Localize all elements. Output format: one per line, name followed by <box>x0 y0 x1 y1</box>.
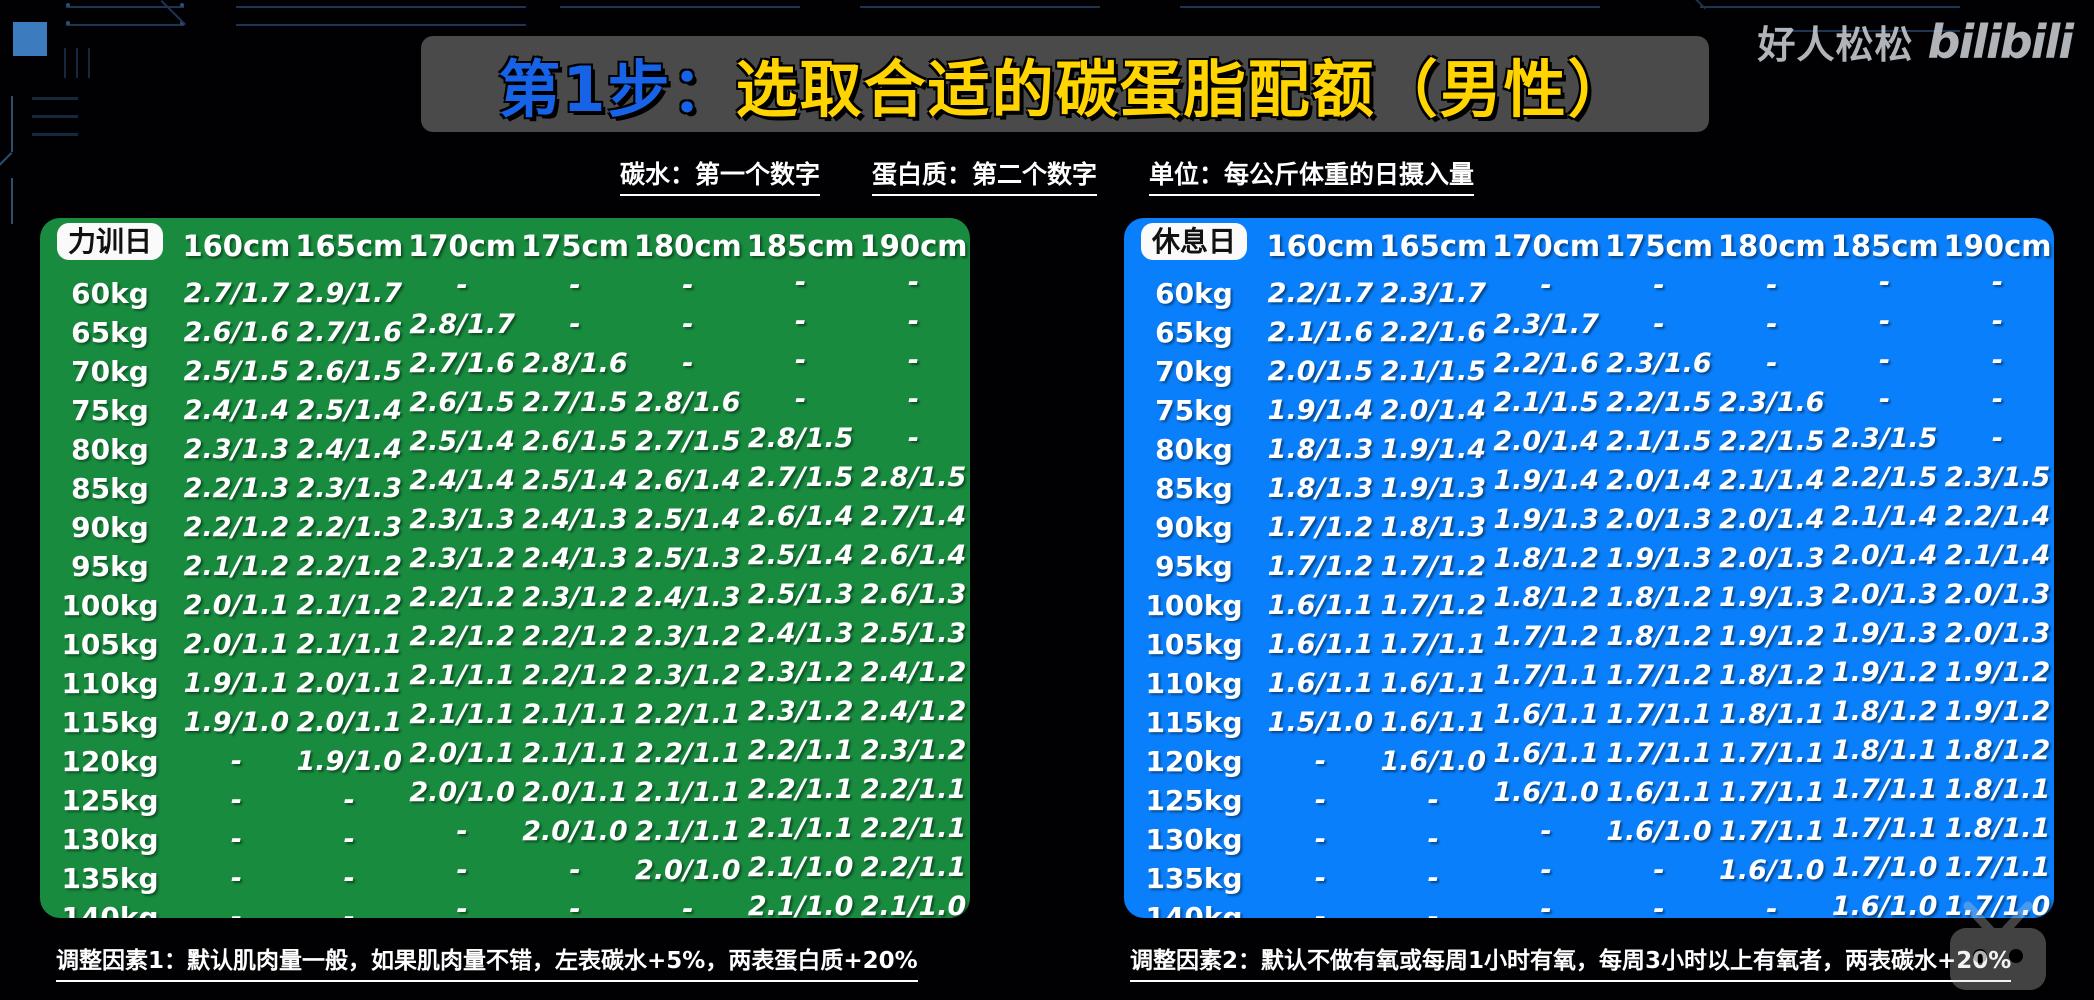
row-label-125kg: 125kg <box>1124 781 1264 820</box>
cell-110kg-170cm: 1.7/1.1 <box>1490 656 1603 695</box>
cell-105kg-165cm: 1.7/1.1 <box>1377 625 1490 664</box>
footnote-right: 调整因素2：默认不做有氧或每周1小时有氧，每周3小时以上有氧者，两表碳水+20% <box>1130 941 2011 982</box>
cell-115kg-185cm: 2.3/1.2 <box>744 692 857 731</box>
cell-130kg-165cm: - <box>293 820 406 859</box>
subheading-carbs: 碳水：第一个数字 <box>620 155 820 196</box>
cell-60kg-165cm: 2.9/1.7 <box>293 274 406 313</box>
cell-115kg-165cm: 1.6/1.1 <box>1377 703 1490 742</box>
cell-75kg-160cm: 1.9/1.4 <box>1264 391 1377 430</box>
cell-70kg-185cm: - <box>1828 341 1941 380</box>
cell-120kg-190cm: 2.3/1.2 <box>857 731 970 770</box>
cell-135kg-175cm: - <box>519 851 632 890</box>
cell-60kg-185cm: - <box>744 263 857 302</box>
cell-120kg-185cm: 2.2/1.1 <box>744 731 857 770</box>
cell-115kg-180cm: 2.2/1.1 <box>631 695 744 734</box>
decor-line <box>560 6 800 8</box>
cell-70kg-190cm: - <box>1941 341 2054 380</box>
cell-95kg-180cm: 2.0/1.3 <box>1715 539 1828 578</box>
cell-105kg-185cm: 1.9/1.3 <box>1828 614 1941 653</box>
cell-125kg-185cm: 1.7/1.1 <box>1828 770 1941 809</box>
cell-100kg-175cm: 2.3/1.2 <box>519 578 632 617</box>
cell-95kg-170cm: 1.8/1.2 <box>1490 539 1603 578</box>
cell-60kg-185cm: - <box>1828 263 1941 302</box>
watermark: 好人松松 bilibili <box>1758 14 2072 69</box>
cell-75kg-190cm: - <box>1941 380 2054 419</box>
cell-60kg-180cm: - <box>631 266 744 305</box>
cell-125kg-185cm: 2.2/1.1 <box>744 770 857 809</box>
cell-95kg-180cm: 2.5/1.3 <box>631 539 744 578</box>
training-badge: 力训日 <box>57 223 163 260</box>
cell-120kg-160cm: - <box>1264 742 1377 781</box>
cell-65kg-165cm: 2.2/1.6 <box>1377 313 1490 352</box>
cell-85kg-180cm: 2.6/1.4 <box>631 461 744 500</box>
subheading-protein: 蛋白质：第二个数字 <box>872 155 1097 196</box>
cell-75kg-190cm: - <box>857 380 970 419</box>
cell-125kg-180cm: 2.1/1.1 <box>631 773 744 812</box>
cell-95kg-170cm: 2.3/1.2 <box>406 539 519 578</box>
cell-80kg-170cm: 2.5/1.4 <box>406 422 519 461</box>
cell-135kg-180cm: 2.0/1.0 <box>631 851 744 890</box>
cell-130kg-185cm: 2.1/1.1 <box>744 809 857 848</box>
cell-110kg-190cm: 1.9/1.2 <box>1941 653 2054 692</box>
cell-70kg-170cm: 2.2/1.6 <box>1490 344 1603 383</box>
cell-115kg-160cm: 1.9/1.0 <box>180 703 293 742</box>
cell-95kg-175cm: 2.4/1.3 <box>519 539 632 578</box>
bilibili-tv-icon <box>1938 900 2058 996</box>
cell-105kg-180cm: 2.3/1.2 <box>631 617 744 656</box>
cell-85kg-170cm: 1.9/1.4 <box>1490 461 1603 500</box>
cell-115kg-190cm: 1.9/1.2 <box>1941 692 2054 731</box>
row-label-75kg: 75kg <box>1124 391 1264 430</box>
cell-140kg-180cm: - <box>1715 890 1828 918</box>
cell-70kg-170cm: 2.7/1.6 <box>406 344 519 383</box>
cell-90kg-180cm: 2.0/1.4 <box>1715 500 1828 539</box>
cell-115kg-175cm: 2.1/1.1 <box>519 695 632 734</box>
row-label-135kg: 135kg <box>40 859 180 898</box>
cell-115kg-180cm: 1.8/1.1 <box>1715 695 1828 734</box>
cell-90kg-180cm: 2.5/1.4 <box>631 500 744 539</box>
cell-60kg-160cm: 2.2/1.7 <box>1264 274 1377 313</box>
cell-110kg-165cm: 2.0/1.1 <box>293 664 406 703</box>
row-label-140kg: 140kg <box>1124 898 1264 918</box>
decor-diagonal <box>161 0 186 25</box>
cell-115kg-165cm: 2.0/1.1 <box>293 703 406 742</box>
cell-70kg-165cm: 2.6/1.5 <box>293 352 406 391</box>
cell-100kg-170cm: 1.8/1.2 <box>1490 578 1603 617</box>
cell-115kg-170cm: 2.1/1.1 <box>406 695 519 734</box>
cell-130kg-190cm: 2.2/1.1 <box>857 809 970 848</box>
row-label-60kg: 60kg <box>1124 274 1264 313</box>
row-label-105kg: 105kg <box>40 625 180 664</box>
cell-100kg-165cm: 1.7/1.2 <box>1377 586 1490 625</box>
cell-70kg-180cm: - <box>1715 344 1828 383</box>
cell-110kg-185cm: 2.3/1.2 <box>744 653 857 692</box>
rest-badge-cell: 休息日 <box>1124 218 1264 274</box>
cell-135kg-185cm: 2.1/1.0 <box>744 848 857 887</box>
cell-60kg-180cm: - <box>1715 266 1828 305</box>
cell-115kg-185cm: 1.8/1.2 <box>1828 692 1941 731</box>
table-row: 140kg-----2.1/1.02.1/1.0 <box>40 898 970 918</box>
cell-85kg-170cm: 2.4/1.4 <box>406 461 519 500</box>
cell-140kg-160cm: - <box>1264 898 1377 918</box>
cell-105kg-170cm: 2.2/1.2 <box>406 617 519 656</box>
cell-90kg-165cm: 1.8/1.3 <box>1377 508 1490 547</box>
cell-90kg-185cm: 2.1/1.4 <box>1828 497 1941 536</box>
cell-120kg-165cm: 1.9/1.0 <box>293 742 406 781</box>
cell-120kg-185cm: 1.8/1.1 <box>1828 731 1941 770</box>
decor-line <box>66 6 184 8</box>
cell-80kg-160cm: 2.3/1.3 <box>180 430 293 469</box>
cell-105kg-175cm: 2.2/1.2 <box>519 617 632 656</box>
row-label-80kg: 80kg <box>40 430 180 469</box>
cell-120kg-160cm: - <box>180 742 293 781</box>
row-label-110kg: 110kg <box>1124 664 1264 703</box>
footnote-left: 调整因素1：默认肌肉量一般，如果肌肉量不错，左表碳水+5%，两表蛋白质+20% <box>56 941 918 982</box>
row-label-140kg: 140kg <box>40 898 180 918</box>
cell-75kg-160cm: 2.4/1.4 <box>180 391 293 430</box>
cell-125kg-180cm: 1.7/1.1 <box>1715 773 1828 812</box>
cell-60kg-175cm: - <box>519 266 632 305</box>
cell-130kg-170cm: - <box>1490 812 1603 851</box>
cell-125kg-170cm: 1.6/1.0 <box>1490 773 1603 812</box>
cell-60kg-165cm: 2.3/1.7 <box>1377 274 1490 313</box>
cell-135kg-160cm: - <box>180 859 293 898</box>
cell-75kg-180cm: 2.3/1.6 <box>1715 383 1828 422</box>
decor-line <box>11 96 13 152</box>
decor-line <box>66 24 184 26</box>
cell-60kg-175cm: - <box>1603 266 1716 305</box>
training-day-table: 力训日 160cm 165cm 170cm 175cm 180cm 185cm … <box>40 218 970 918</box>
cell-80kg-180cm: 2.2/1.5 <box>1715 422 1828 461</box>
cell-65kg-175cm: - <box>1603 305 1716 344</box>
cell-65kg-165cm: 2.7/1.6 <box>293 313 406 352</box>
cell-135kg-175cm: - <box>1603 851 1716 890</box>
row-label-130kg: 130kg <box>40 820 180 859</box>
cell-105kg-160cm: 2.0/1.1 <box>180 625 293 664</box>
cell-125kg-160cm: - <box>1264 781 1377 820</box>
decor-line <box>236 24 526 26</box>
cell-100kg-165cm: 2.1/1.2 <box>293 586 406 625</box>
cell-100kg-160cm: 2.0/1.1 <box>180 586 293 625</box>
row-label-70kg: 70kg <box>40 352 180 391</box>
cell-140kg-165cm: - <box>1377 898 1490 918</box>
cell-95kg-165cm: 2.2/1.2 <box>293 547 406 586</box>
cell-140kg-175cm: - <box>1603 890 1716 918</box>
cell-85kg-175cm: 2.0/1.4 <box>1603 461 1716 500</box>
cell-120kg-180cm: 1.7/1.1 <box>1715 734 1828 773</box>
cell-65kg-180cm: - <box>631 305 744 344</box>
row-label-60kg: 60kg <box>40 274 180 313</box>
cell-115kg-170cm: 1.6/1.1 <box>1490 695 1603 734</box>
cell-105kg-190cm: 2.0/1.3 <box>1941 614 2054 653</box>
cell-115kg-175cm: 1.7/1.1 <box>1603 695 1716 734</box>
cell-120kg-170cm: 2.0/1.1 <box>406 734 519 773</box>
cell-90kg-165cm: 2.2/1.3 <box>293 508 406 547</box>
cell-90kg-175cm: 2.0/1.3 <box>1603 500 1716 539</box>
decor-bar <box>32 115 78 118</box>
cell-65kg-190cm: - <box>857 302 970 341</box>
cell-65kg-170cm: 2.8/1.7 <box>406 305 519 344</box>
cell-115kg-190cm: 2.4/1.2 <box>857 692 970 731</box>
row-label-110kg: 110kg <box>40 664 180 703</box>
row-label-120kg: 120kg <box>40 742 180 781</box>
cell-100kg-170cm: 2.2/1.2 <box>406 578 519 617</box>
cell-130kg-160cm: - <box>1264 820 1377 859</box>
cell-75kg-170cm: 2.6/1.5 <box>406 383 519 422</box>
cell-65kg-170cm: 2.3/1.7 <box>1490 305 1603 344</box>
row-label-85kg: 85kg <box>40 469 180 508</box>
cell-125kg-190cm: 1.8/1.1 <box>1941 770 2054 809</box>
cell-130kg-160cm: - <box>180 820 293 859</box>
cell-80kg-185cm: 2.3/1.5 <box>1828 419 1941 458</box>
row-label-115kg: 115kg <box>40 703 180 742</box>
cell-140kg-185cm: 1.6/1.0 <box>1828 887 1941 918</box>
row-label-100kg: 100kg <box>40 586 180 625</box>
poster-root: 好人松松 bilibili 第1步：选取合适的碳蛋脂配额（男性） 碳水：第一个数… <box>0 0 2094 1000</box>
cell-135kg-165cm: - <box>293 859 406 898</box>
training-day-panel: 力训日 160cm 165cm 170cm 175cm 180cm 185cm … <box>40 218 970 918</box>
cell-95kg-190cm: 2.1/1.4 <box>1941 536 2054 575</box>
cell-100kg-180cm: 1.9/1.3 <box>1715 578 1828 617</box>
cell-70kg-175cm: 2.8/1.6 <box>519 344 632 383</box>
cell-115kg-160cm: 1.5/1.0 <box>1264 703 1377 742</box>
cell-75kg-175cm: 2.2/1.5 <box>1603 383 1716 422</box>
column-header-160cm: 160cm <box>180 218 293 274</box>
cell-130kg-175cm: 2.0/1.0 <box>519 812 632 851</box>
cell-110kg-175cm: 1.7/1.2 <box>1603 656 1716 695</box>
cell-85kg-160cm: 1.8/1.3 <box>1264 469 1377 508</box>
cell-140kg-170cm: - <box>1490 890 1603 918</box>
decor-dot <box>66 3 70 7</box>
cell-70kg-160cm: 2.5/1.5 <box>180 352 293 391</box>
cell-130kg-175cm: 1.6/1.0 <box>1603 812 1716 851</box>
decor-line <box>1180 6 1600 8</box>
rest-day-panel: 休息日 160cm 165cm 170cm 175cm 180cm 185cm … <box>1124 218 2054 918</box>
cell-70kg-190cm: - <box>857 341 970 380</box>
cell-105kg-165cm: 2.1/1.1 <box>293 625 406 664</box>
cell-90kg-175cm: 2.4/1.3 <box>519 500 632 539</box>
cell-70kg-180cm: - <box>631 344 744 383</box>
cell-105kg-185cm: 2.4/1.3 <box>744 614 857 653</box>
table-row: 140kg-----1.6/1.01.7/1.0 <box>1124 898 2054 918</box>
cell-95kg-185cm: 2.0/1.4 <box>1828 536 1941 575</box>
cell-125kg-160cm: - <box>180 781 293 820</box>
cell-65kg-185cm: - <box>1828 302 1941 341</box>
cell-110kg-190cm: 2.4/1.2 <box>857 653 970 692</box>
cell-80kg-180cm: 2.7/1.5 <box>631 422 744 461</box>
cell-80kg-175cm: 2.1/1.5 <box>1603 422 1716 461</box>
cell-90kg-160cm: 1.7/1.2 <box>1264 508 1377 547</box>
decor-tick <box>88 48 90 78</box>
cell-80kg-190cm: - <box>1941 419 2054 458</box>
cell-110kg-175cm: 2.2/1.2 <box>519 656 632 695</box>
cell-85kg-185cm: 2.2/1.5 <box>1828 458 1941 497</box>
cell-120kg-190cm: 1.8/1.2 <box>1941 731 2054 770</box>
subheading-row: 碳水：第一个数字 蛋白质：第二个数字 单位：每公斤体重的日摄入量 <box>0 155 2094 196</box>
cell-100kg-180cm: 2.4/1.3 <box>631 578 744 617</box>
row-label-90kg: 90kg <box>40 508 180 547</box>
decor-diagonal <box>1681 0 1706 9</box>
row-label-135kg: 135kg <box>1124 859 1264 898</box>
cell-100kg-190cm: 2.6/1.3 <box>857 575 970 614</box>
bilibili-mascot-watermark <box>1938 900 2058 996</box>
cell-65kg-190cm: - <box>1941 302 2054 341</box>
cell-65kg-175cm: - <box>519 305 632 344</box>
page-title: 第1步：选取合适的碳蛋脂配额（男性） <box>421 36 1709 132</box>
row-label-90kg: 90kg <box>1124 508 1264 547</box>
subheading-unit: 单位：每公斤体重的日摄入量 <box>1149 155 1474 196</box>
decor-square <box>13 22 47 56</box>
decor-dot <box>66 21 70 25</box>
cell-140kg-170cm: - <box>406 890 519 918</box>
cell-90kg-160cm: 2.2/1.2 <box>180 508 293 547</box>
cell-95kg-175cm: 1.9/1.3 <box>1603 539 1716 578</box>
row-label-95kg: 95kg <box>1124 547 1264 586</box>
cell-105kg-170cm: 1.7/1.2 <box>1490 617 1603 656</box>
cell-60kg-170cm: - <box>406 266 519 305</box>
cell-110kg-160cm: 1.6/1.1 <box>1264 664 1377 703</box>
cell-80kg-175cm: 2.6/1.5 <box>519 422 632 461</box>
cell-65kg-160cm: 2.1/1.6 <box>1264 313 1377 352</box>
cell-60kg-190cm: - <box>1941 263 2054 302</box>
decor-line <box>236 6 526 8</box>
cell-75kg-170cm: 2.1/1.5 <box>1490 383 1603 422</box>
cell-80kg-160cm: 1.8/1.3 <box>1264 430 1377 469</box>
cell-120kg-170cm: 1.6/1.1 <box>1490 734 1603 773</box>
cell-80kg-190cm: - <box>857 419 970 458</box>
cell-130kg-170cm: - <box>406 812 519 851</box>
cell-70kg-165cm: 2.1/1.5 <box>1377 352 1490 391</box>
cell-105kg-180cm: 1.9/1.2 <box>1715 617 1828 656</box>
cell-110kg-180cm: 2.3/1.2 <box>631 656 744 695</box>
row-label-80kg: 80kg <box>1124 430 1264 469</box>
cell-95kg-185cm: 2.5/1.4 <box>744 536 857 575</box>
decor-line <box>860 6 1100 8</box>
cell-110kg-165cm: 1.6/1.1 <box>1377 664 1490 703</box>
decor-tick <box>64 48 66 78</box>
cell-70kg-185cm: - <box>744 341 857 380</box>
cell-100kg-190cm: 2.0/1.3 <box>1941 575 2054 614</box>
cell-120kg-175cm: 1.7/1.1 <box>1603 734 1716 773</box>
cell-125kg-165cm: - <box>1377 781 1490 820</box>
cell-135kg-160cm: - <box>1264 859 1377 898</box>
cell-135kg-170cm: - <box>406 851 519 890</box>
cell-90kg-170cm: 2.3/1.3 <box>406 500 519 539</box>
cell-140kg-180cm: - <box>631 890 744 918</box>
row-label-85kg: 85kg <box>1124 469 1264 508</box>
decor-dot <box>180 21 184 25</box>
cell-65kg-160cm: 2.6/1.6 <box>180 313 293 352</box>
title-prefix: 第1步： <box>498 39 735 129</box>
column-header-165cm: 165cm <box>1377 218 1490 274</box>
cell-85kg-165cm: 1.9/1.3 <box>1377 469 1490 508</box>
cell-75kg-165cm: 2.0/1.4 <box>1377 391 1490 430</box>
cell-75kg-185cm: - <box>744 380 857 419</box>
cell-140kg-165cm: - <box>293 898 406 918</box>
row-label-105kg: 105kg <box>1124 625 1264 664</box>
cell-100kg-160cm: 1.6/1.1 <box>1264 586 1377 625</box>
cell-90kg-190cm: 2.2/1.4 <box>1941 497 2054 536</box>
cell-100kg-185cm: 2.5/1.3 <box>744 575 857 614</box>
cell-85kg-180cm: 2.1/1.4 <box>1715 461 1828 500</box>
cell-105kg-175cm: 1.8/1.2 <box>1603 617 1716 656</box>
row-label-130kg: 130kg <box>1124 820 1264 859</box>
cell-85kg-185cm: 2.7/1.5 <box>744 458 857 497</box>
training-table-body: 60kg2.7/1.72.9/1.7-----65kg2.6/1.62.7/1.… <box>40 274 970 918</box>
row-label-65kg: 65kg <box>40 313 180 352</box>
cell-140kg-185cm: 2.1/1.0 <box>744 887 857 918</box>
cell-65kg-180cm: - <box>1715 305 1828 344</box>
cell-105kg-190cm: 2.5/1.3 <box>857 614 970 653</box>
cell-135kg-185cm: 1.7/1.0 <box>1828 848 1941 887</box>
row-label-70kg: 70kg <box>1124 352 1264 391</box>
cell-130kg-180cm: 1.7/1.1 <box>1715 812 1828 851</box>
cell-85kg-160cm: 2.2/1.3 <box>180 469 293 508</box>
cell-95kg-165cm: 1.7/1.2 <box>1377 547 1490 586</box>
cell-110kg-170cm: 2.1/1.1 <box>406 656 519 695</box>
cell-70kg-160cm: 2.0/1.5 <box>1264 352 1377 391</box>
cell-80kg-165cm: 1.9/1.4 <box>1377 430 1490 469</box>
row-label-75kg: 75kg <box>40 391 180 430</box>
rest-day-table: 休息日 160cm 165cm 170cm 175cm 180cm 185cm … <box>1124 218 2054 918</box>
rest-table-body: 60kg2.2/1.72.3/1.7-----65kg2.1/1.62.2/1.… <box>1124 274 2054 918</box>
cell-125kg-175cm: 1.6/1.1 <box>1603 773 1716 812</box>
cell-70kg-175cm: 2.3/1.6 <box>1603 344 1716 383</box>
cell-125kg-190cm: 2.2/1.1 <box>857 770 970 809</box>
rest-badge: 休息日 <box>1141 223 1247 260</box>
cell-65kg-185cm: - <box>744 302 857 341</box>
row-label-95kg: 95kg <box>40 547 180 586</box>
column-header-165cm: 165cm <box>293 218 406 274</box>
cell-105kg-160cm: 1.6/1.1 <box>1264 625 1377 664</box>
cell-125kg-165cm: - <box>293 781 406 820</box>
decor-tick <box>76 48 78 78</box>
cell-60kg-190cm: - <box>857 263 970 302</box>
decor-bar <box>32 133 78 136</box>
cell-125kg-170cm: 2.0/1.0 <box>406 773 519 812</box>
cell-100kg-175cm: 1.8/1.2 <box>1603 578 1716 617</box>
cell-130kg-165cm: - <box>1377 820 1490 859</box>
cell-120kg-180cm: 2.2/1.1 <box>631 734 744 773</box>
cell-75kg-180cm: 2.8/1.6 <box>631 383 744 422</box>
cell-120kg-175cm: 2.1/1.1 <box>519 734 632 773</box>
cell-130kg-185cm: 1.7/1.1 <box>1828 809 1941 848</box>
cell-85kg-165cm: 2.3/1.3 <box>293 469 406 508</box>
cell-110kg-180cm: 1.8/1.2 <box>1715 656 1828 695</box>
cell-80kg-165cm: 2.4/1.4 <box>293 430 406 469</box>
row-label-115kg: 115kg <box>1124 703 1264 742</box>
cell-135kg-180cm: 1.6/1.0 <box>1715 851 1828 890</box>
cell-135kg-190cm: 2.2/1.1 <box>857 848 970 887</box>
cell-130kg-190cm: 1.8/1.1 <box>1941 809 2054 848</box>
cell-85kg-190cm: 2.3/1.5 <box>1941 458 2054 497</box>
cell-75kg-185cm: - <box>1828 380 1941 419</box>
decor-line <box>1700 6 1960 8</box>
column-header-160cm: 160cm <box>1264 218 1377 274</box>
watermark-channel: 好人松松 <box>1758 14 1914 69</box>
cell-75kg-175cm: 2.7/1.5 <box>519 383 632 422</box>
row-label-65kg: 65kg <box>1124 313 1264 352</box>
cell-90kg-190cm: 2.7/1.4 <box>857 497 970 536</box>
cell-95kg-160cm: 2.1/1.2 <box>180 547 293 586</box>
cell-85kg-190cm: 2.8/1.5 <box>857 458 970 497</box>
cell-110kg-185cm: 1.9/1.2 <box>1828 653 1941 692</box>
cell-85kg-175cm: 2.5/1.4 <box>519 461 632 500</box>
cell-60kg-160cm: 2.7/1.7 <box>180 274 293 313</box>
row-label-125kg: 125kg <box>40 781 180 820</box>
decor-dot <box>180 3 184 7</box>
cell-80kg-185cm: 2.8/1.5 <box>744 419 857 458</box>
